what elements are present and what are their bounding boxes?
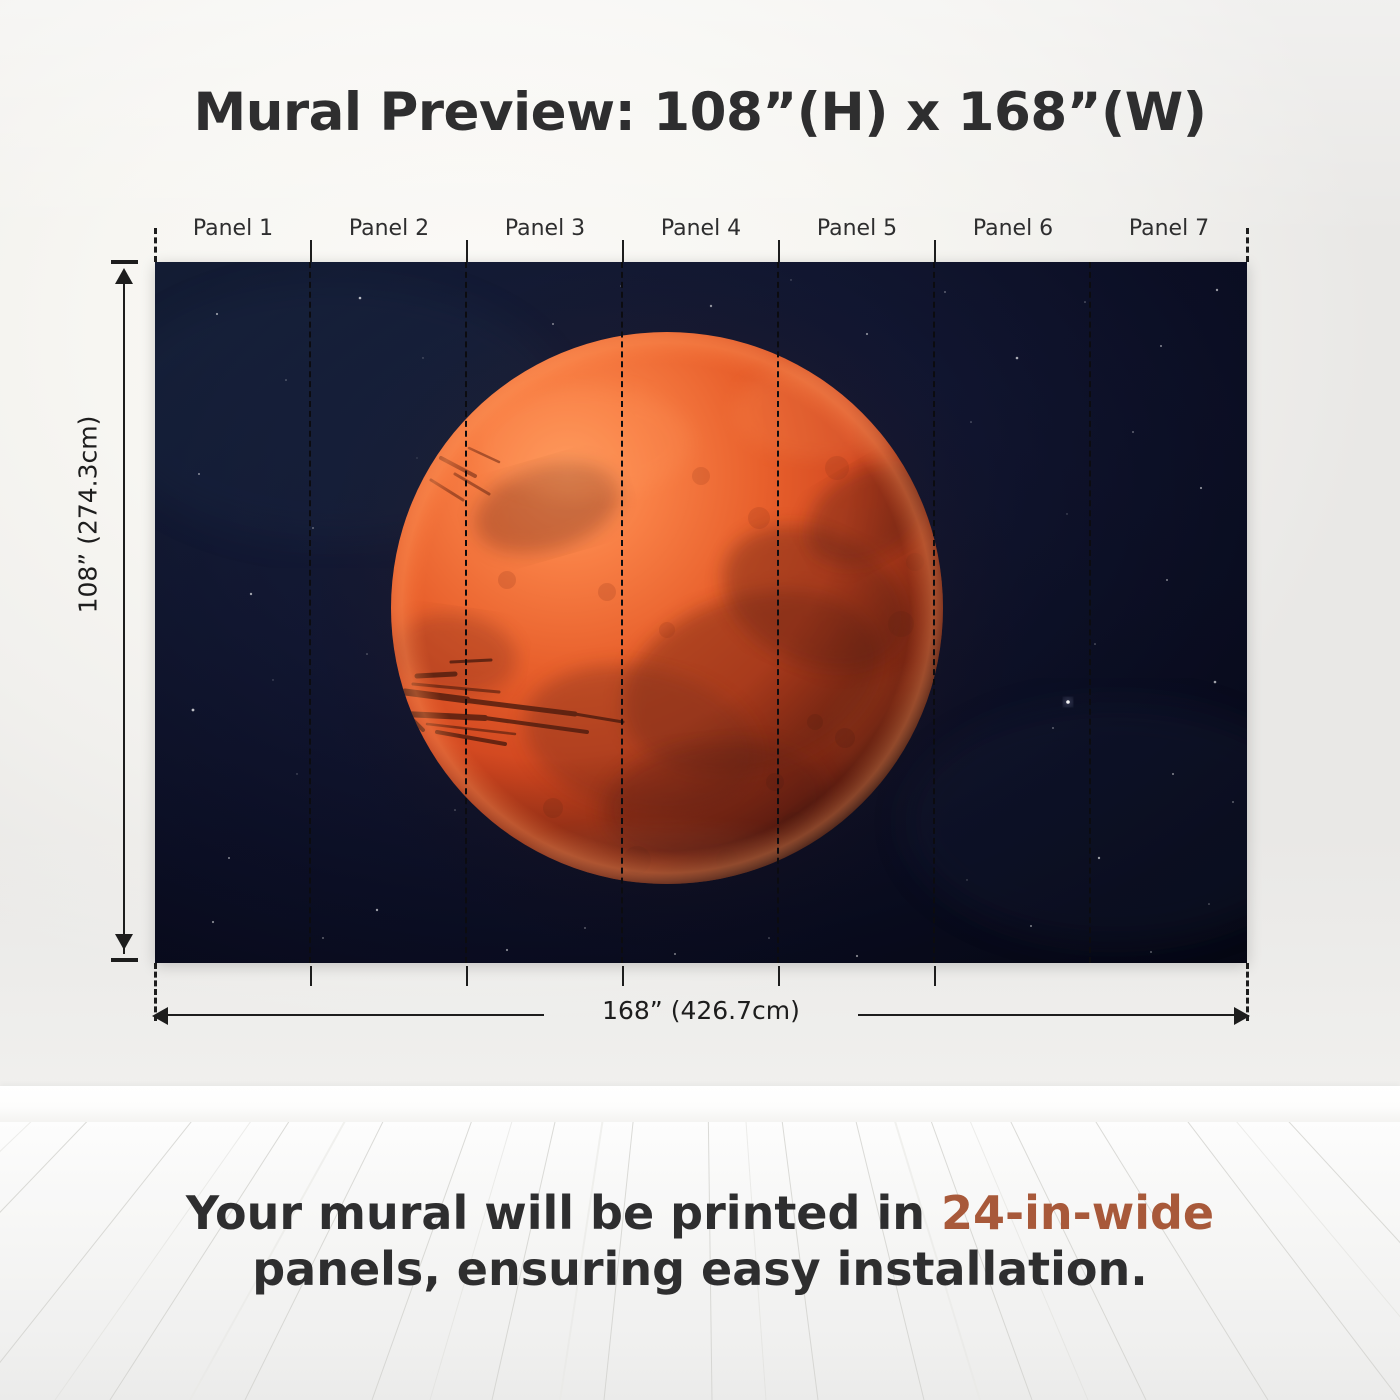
panel-tick-top-3 <box>622 240 624 262</box>
panel-label-2: Panel 2 <box>311 216 467 241</box>
panel-divider-5 <box>933 262 935 963</box>
footer-text-before: Your mural will be printed in <box>186 1186 941 1240</box>
panel-tick-top-5 <box>934 240 936 262</box>
bright-star <box>1064 698 1073 707</box>
footer-line-2: panels, ensuring easy installation. <box>0 1241 1400 1297</box>
panel-divider-2 <box>465 262 467 963</box>
panel-tick-top-1 <box>310 240 312 262</box>
panel-label-7: Panel 7 <box>1091 216 1247 241</box>
width-dimension-line-left <box>168 1014 544 1016</box>
height-cap-bottom <box>111 958 138 962</box>
width-dimension-line-right <box>858 1014 1234 1016</box>
panel-tick-bottom-2 <box>466 966 468 986</box>
width-dimension-label: 168” (426.7cm) <box>544 996 858 1025</box>
mural-edge-marker-top-left <box>154 228 157 262</box>
panel-tick-top-2 <box>466 240 468 262</box>
mural-edge-marker-top-right <box>1246 228 1249 262</box>
panel-divider-4 <box>777 262 779 963</box>
page-title: Mural Preview: 108”(H) x 168”(W) <box>0 82 1400 143</box>
mural-preview-screenshot: Mural Preview: 108”(H) x 168”(W) Panel 1… <box>0 0 1400 1400</box>
panel-label-6: Panel 6 <box>935 216 1091 241</box>
height-arrow-down <box>115 934 133 950</box>
panel-label-1: Panel 1 <box>155 216 311 241</box>
panel-tick-top-4 <box>778 240 780 262</box>
width-arrow-right <box>1234 1007 1250 1025</box>
footer-accent-text: 24-in-wide <box>941 1186 1214 1240</box>
panel-label-3: Panel 3 <box>467 216 623 241</box>
baseboard <box>0 1086 1400 1124</box>
panel-tick-bottom-3 <box>622 966 624 986</box>
width-arrow-left <box>152 1007 168 1025</box>
mural-artwork <box>155 262 1247 963</box>
panel-divider-6 <box>1089 262 1091 963</box>
height-cap-top <box>111 260 138 264</box>
panel-divider-3 <box>621 262 623 963</box>
panel-tick-bottom-5 <box>934 966 936 986</box>
mars-space-artwork <box>155 262 1247 963</box>
panel-divider-1 <box>309 262 311 963</box>
footer-line-1: Your mural will be printed in 24-in-wide <box>0 1185 1400 1241</box>
panel-label-5: Panel 5 <box>779 216 935 241</box>
height-dimension-label: 108” (274.3cm) <box>74 365 103 665</box>
height-dimension-line <box>123 272 125 954</box>
panel-tick-bottom-1 <box>310 966 312 986</box>
panel-label-4: Panel 4 <box>623 216 779 241</box>
panel-tick-bottom-4 <box>778 966 780 986</box>
footer-note: Your mural will be printed in 24-in-wide… <box>0 1185 1400 1297</box>
